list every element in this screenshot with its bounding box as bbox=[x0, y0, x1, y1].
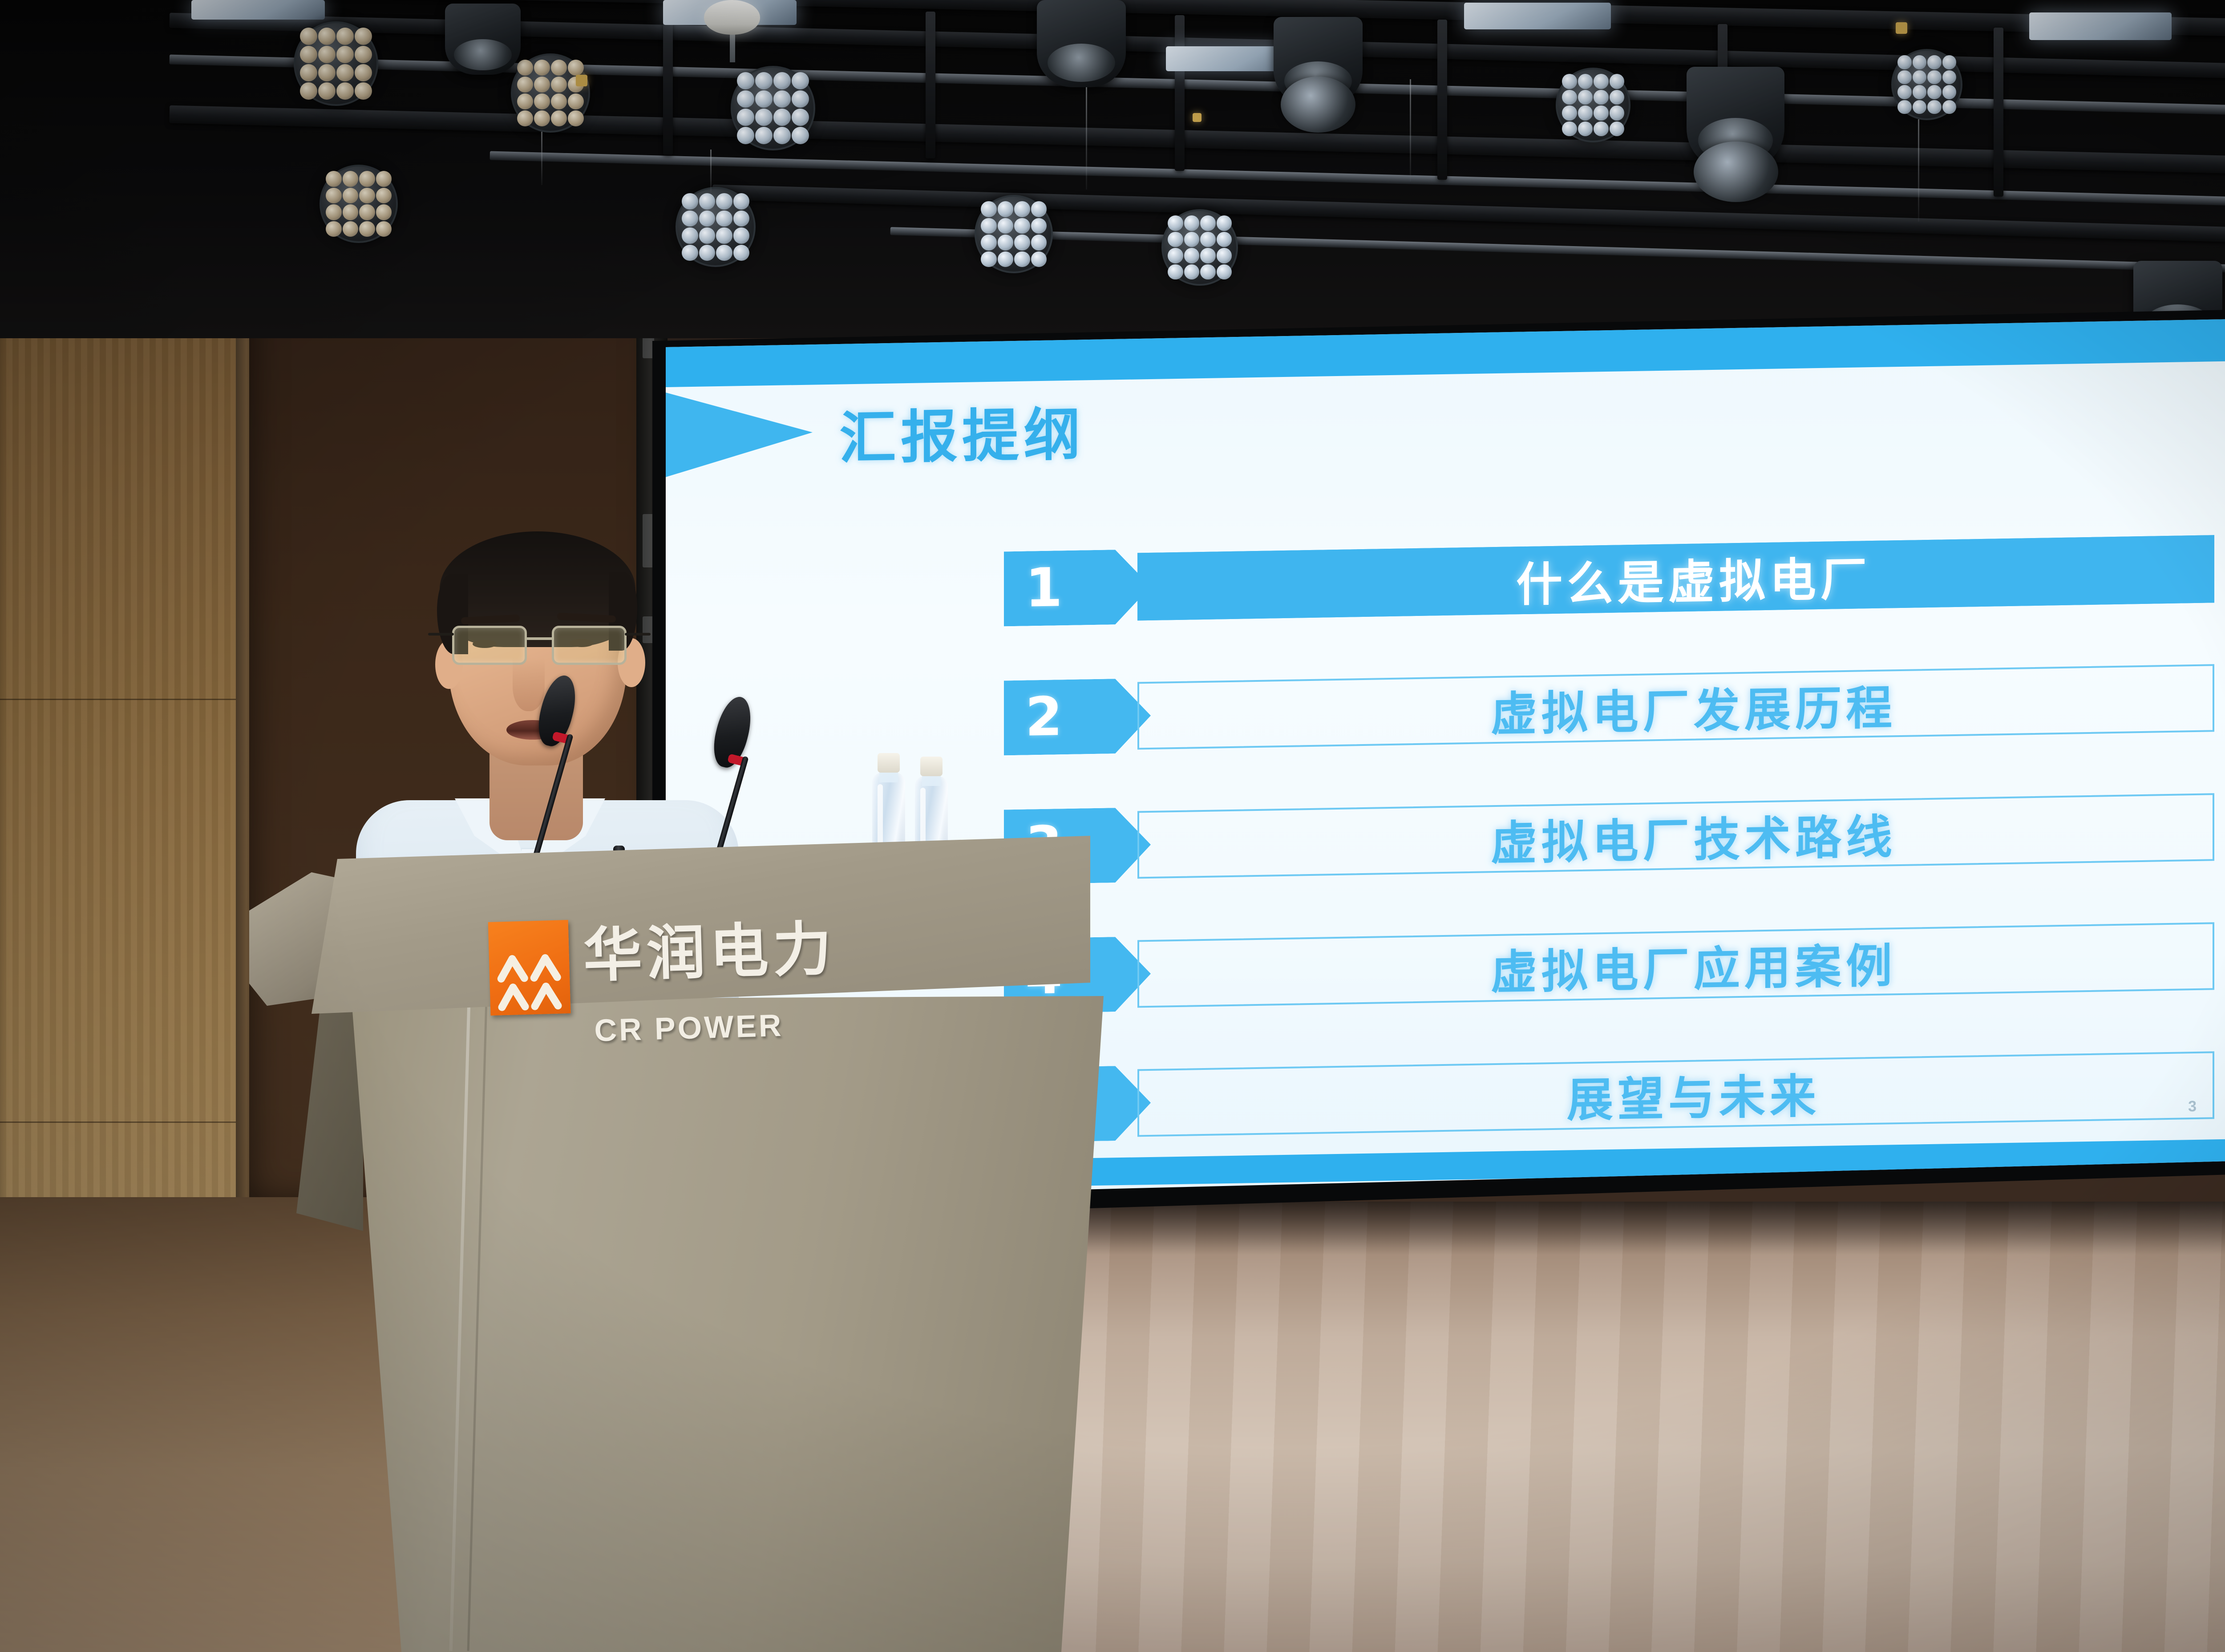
outline-item-3[interactable]: 3 虚拟电厂技术路线 bbox=[1004, 790, 2225, 885]
outline-label-1: 什么是虚拟电厂 bbox=[1516, 541, 1871, 614]
slide-title: 汇报提纲 bbox=[839, 388, 1085, 474]
glasses-temple-right bbox=[625, 633, 651, 636]
moving-head-lens bbox=[1281, 77, 1355, 133]
title-arrow-icon bbox=[666, 390, 813, 477]
bottle-highlight bbox=[878, 784, 883, 851]
ceiling-panel-light bbox=[1464, 3, 1611, 29]
moving-head-lens bbox=[1694, 142, 1778, 202]
led-par-light bbox=[975, 195, 1053, 273]
cr-power-brand-cn: 华润电力 bbox=[583, 919, 837, 985]
outline-bar-4: 虚拟电厂应用案例 bbox=[1137, 922, 2214, 1008]
outline-item-2[interactable]: 2 虚拟电厂发展历程 bbox=[1004, 660, 2225, 756]
conference-hall-scene: 汇报提纲 1 什么是虚拟电厂 2 虚拟电厂发展历程 3 bbox=[0, 0, 2225, 1652]
led-par-light bbox=[1161, 209, 1238, 286]
glasses-temple-left bbox=[428, 633, 454, 636]
bottle-cap bbox=[920, 757, 943, 776]
outline-item-5[interactable]: 5 展望与未来 bbox=[1004, 1048, 2225, 1143]
outline-item-4[interactable]: 4 虚拟电厂应用案例 bbox=[1004, 919, 2225, 1014]
outline-label-5: 展望与未来 bbox=[1567, 1058, 1820, 1129]
bottle-cap bbox=[878, 753, 900, 773]
moving-head-spotlight bbox=[445, 4, 521, 75]
glasses-lens-right bbox=[552, 626, 627, 665]
outline-bar-2: 虚拟电厂发展历程 bbox=[1137, 664, 2214, 749]
ceiling-panel-light bbox=[2029, 12, 2172, 40]
outline-number-2: 2 bbox=[1004, 678, 1151, 755]
ceiling-panel-light bbox=[191, 0, 325, 20]
speaker-nose bbox=[513, 658, 545, 711]
outline-item-1[interactable]: 1 什么是虚拟电厂 bbox=[1004, 531, 2225, 627]
slide-page-number: 3 bbox=[2188, 1098, 2197, 1115]
pendant-ball-light bbox=[704, 0, 760, 35]
cr-power-logo: 华润电力 CR POWER bbox=[488, 902, 938, 1105]
led-par-light bbox=[511, 53, 590, 133]
cr-power-chevron-icon bbox=[488, 920, 571, 1016]
outline-bar-3: 虚拟电厂技术路线 bbox=[1137, 793, 2214, 879]
led-par-light bbox=[320, 165, 398, 243]
outline-bar-1: 什么是虚拟电厂 bbox=[1137, 535, 2214, 620]
glasses-bridge bbox=[526, 637, 554, 640]
moving-head-spotlight bbox=[1037, 0, 1126, 87]
floor-left-shadow-area bbox=[0, 1197, 427, 1652]
outline-list: 1 什么是虚拟电厂 2 虚拟电厂发展历程 3 虚拟电厂技术路线 bbox=[1004, 531, 2225, 1197]
led-par-light bbox=[731, 66, 815, 150]
led-par-light bbox=[1891, 49, 1962, 120]
outline-label-2: 虚拟电厂发展历程 bbox=[1491, 670, 1897, 744]
led-par-light bbox=[294, 21, 378, 106]
led-par-light bbox=[1556, 68, 1630, 142]
cr-power-brand-en: CR POWER bbox=[594, 1008, 784, 1049]
outline-label-3: 虚拟电厂技术路线 bbox=[1491, 799, 1897, 873]
outline-label-4: 虚拟电厂应用案例 bbox=[1491, 928, 1897, 1002]
led-par-light bbox=[676, 187, 756, 267]
outline-bar-5: 展望与未来 bbox=[1137, 1051, 2214, 1137]
outline-number-1: 1 bbox=[1004, 549, 1151, 626]
ceiling-rig bbox=[0, 0, 2225, 338]
